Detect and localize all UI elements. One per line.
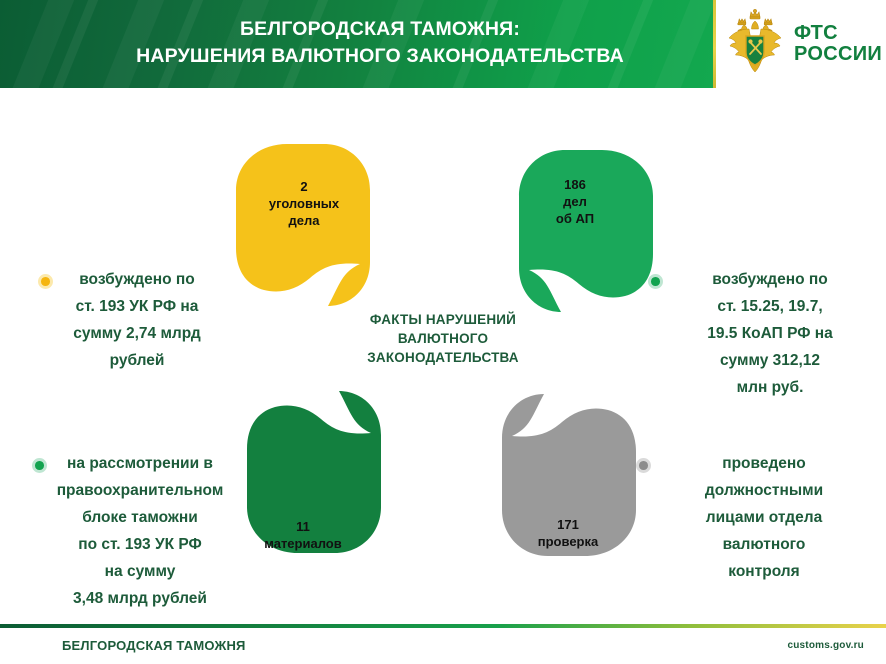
diagram-canvas: 2 уголовных дела 186 дел об АП 11 матери… [0,88,886,608]
fts-logo: ФТС РОССИИ [716,0,886,88]
page-title: БЕЛГОРОДСКАЯ ТАМОЖНЯ: НАРУШЕНИЯ ВАЛЮТНОГ… [60,16,700,70]
petal-label-administrative-cases: 186 дел об АП [515,176,635,227]
petal-inspections[interactable]: 171 проверка [490,376,640,556]
slide-footer: БЕЛГОРОДСКАЯ ТАМОЖНЯ customs.gov.ru [0,624,886,664]
slide-header: БЕЛГОРОДСКАЯ ТАМОЖНЯ: НАРУШЕНИЯ ВАЛЮТНОГ… [0,0,886,88]
fts-logo-text: ФТС РОССИИ [794,23,882,65]
callout-criminal-cases: возбуждено по ст. 193 УК РФ на сумму 2,7… [22,266,252,374]
callout-inspections: проведено должностными лицами отдела вал… [648,450,880,585]
petal-label-inspections: 171 проверка [508,516,628,550]
petal-label-criminal-cases: 2 уголовных дела [244,178,364,229]
petal-criminal-cases[interactable]: 2 уголовных дела [232,144,382,324]
callout-materials-under-review: на рассмотрении в правоохранительном бло… [10,450,270,612]
russian-double-headed-eagle-emblem-icon [724,9,786,80]
footer-gradient-rule [0,624,886,628]
diagram-center-label: ФАКТЫ НАРУШЕНИЙ ВАЛЮТНОГО ЗАКОНОДАТЕЛЬСТ… [333,310,553,367]
petal-administrative-cases[interactable]: 186 дел об АП [507,150,657,330]
callout-administrative-cases: возбуждено по ст. 15.25, 19.7, 19.5 КоАП… [660,266,880,401]
footer-website: customs.gov.ru [787,640,864,651]
footer-organization: БЕЛГОРОДСКАЯ ТАМОЖНЯ [62,638,246,653]
